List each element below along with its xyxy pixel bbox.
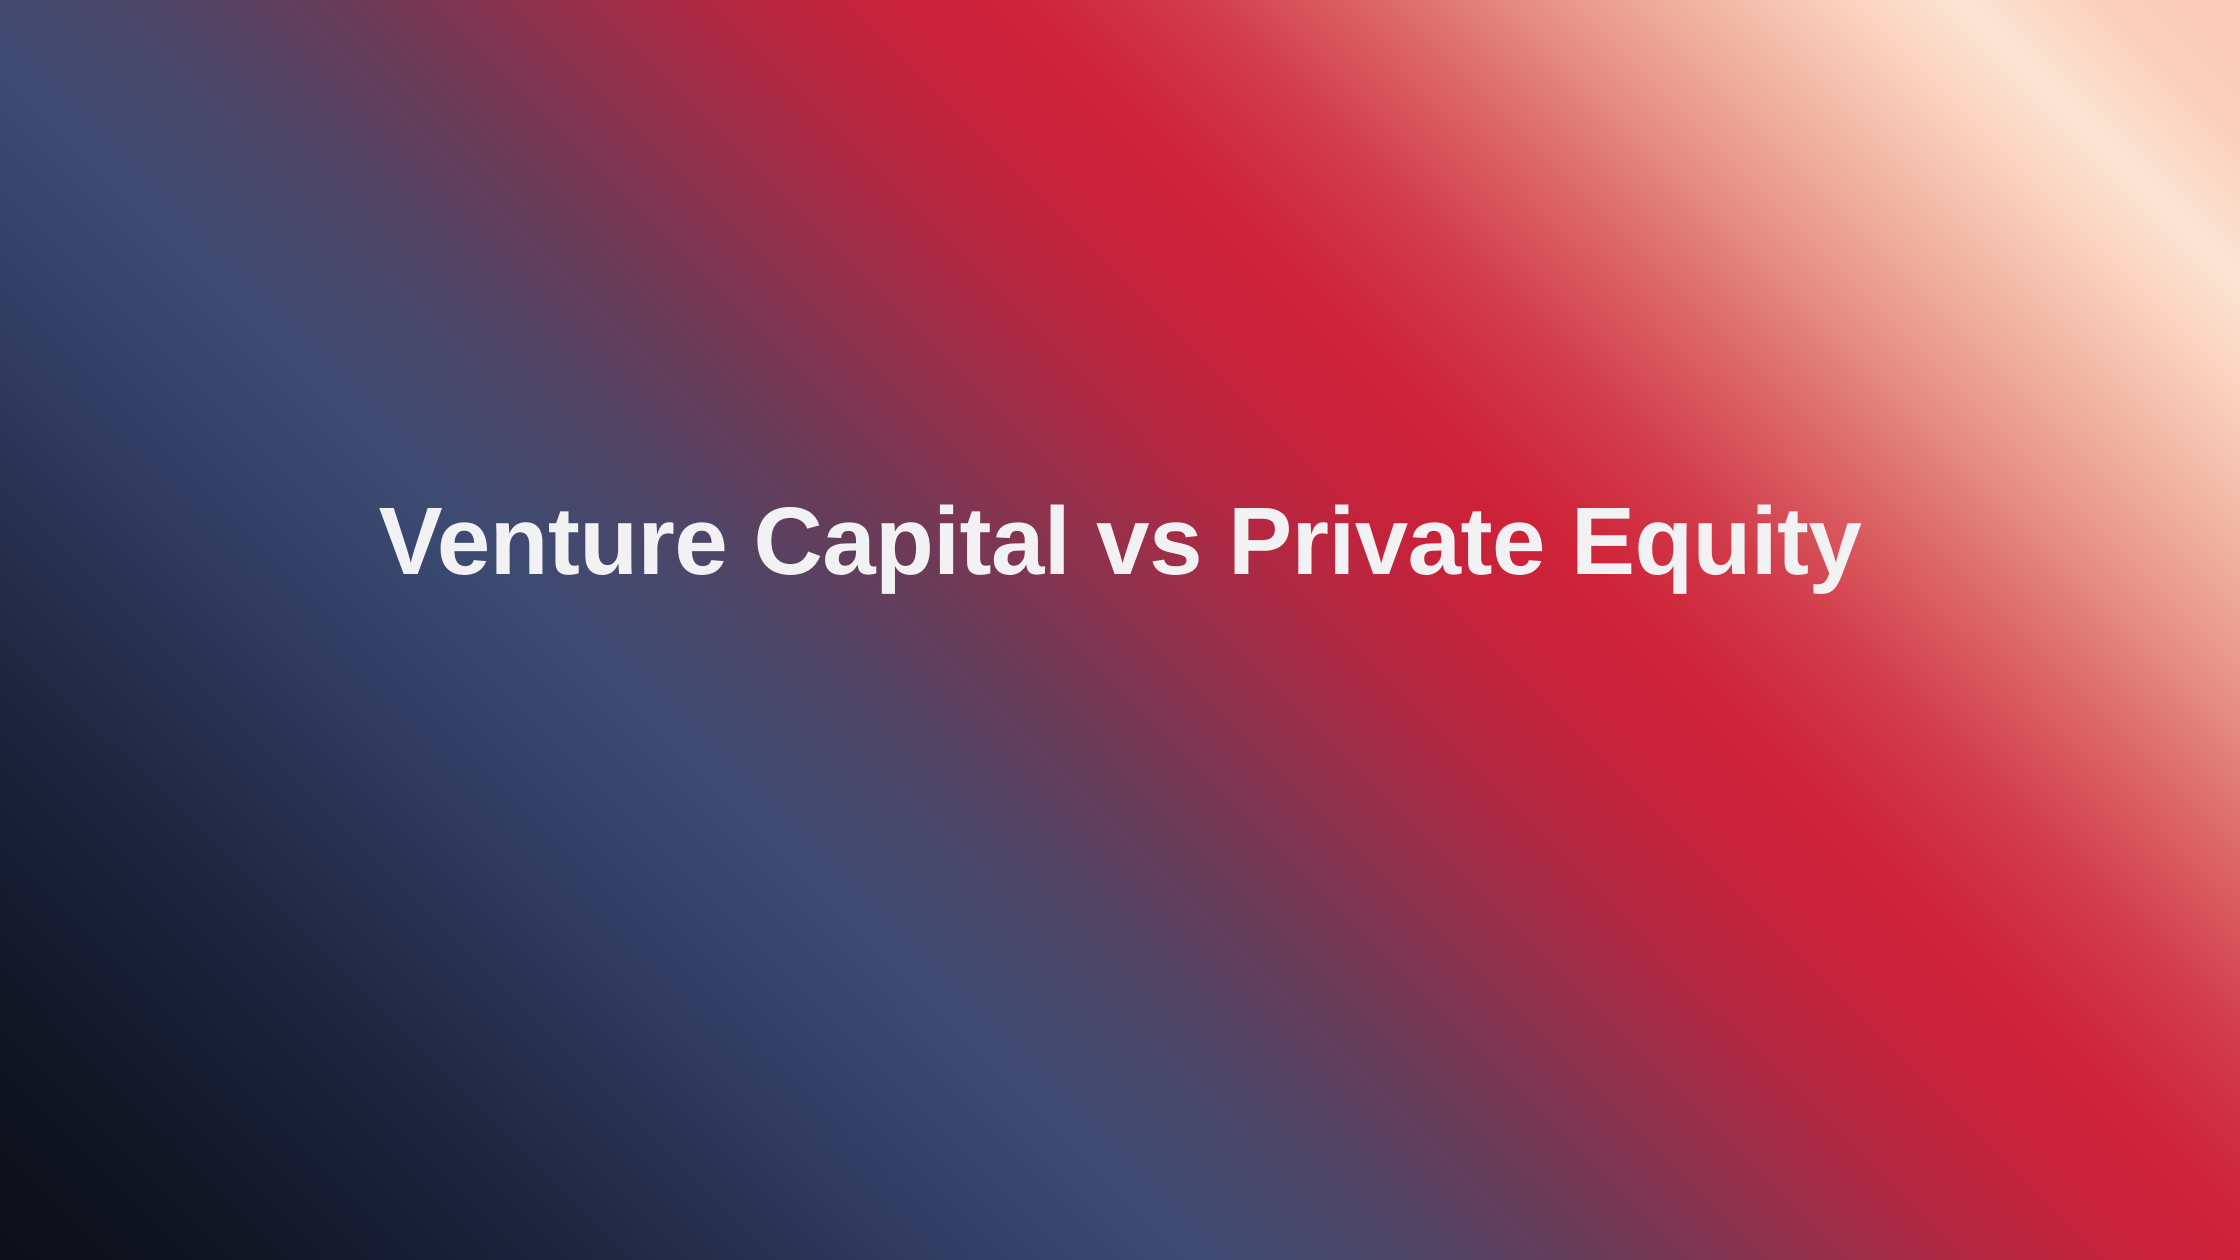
title-slide: Venture Capital vs Private Equity xyxy=(0,0,2240,1260)
title-container: Venture Capital vs Private Equity xyxy=(0,0,2240,1260)
page-title: Venture Capital vs Private Equity xyxy=(299,489,1942,595)
